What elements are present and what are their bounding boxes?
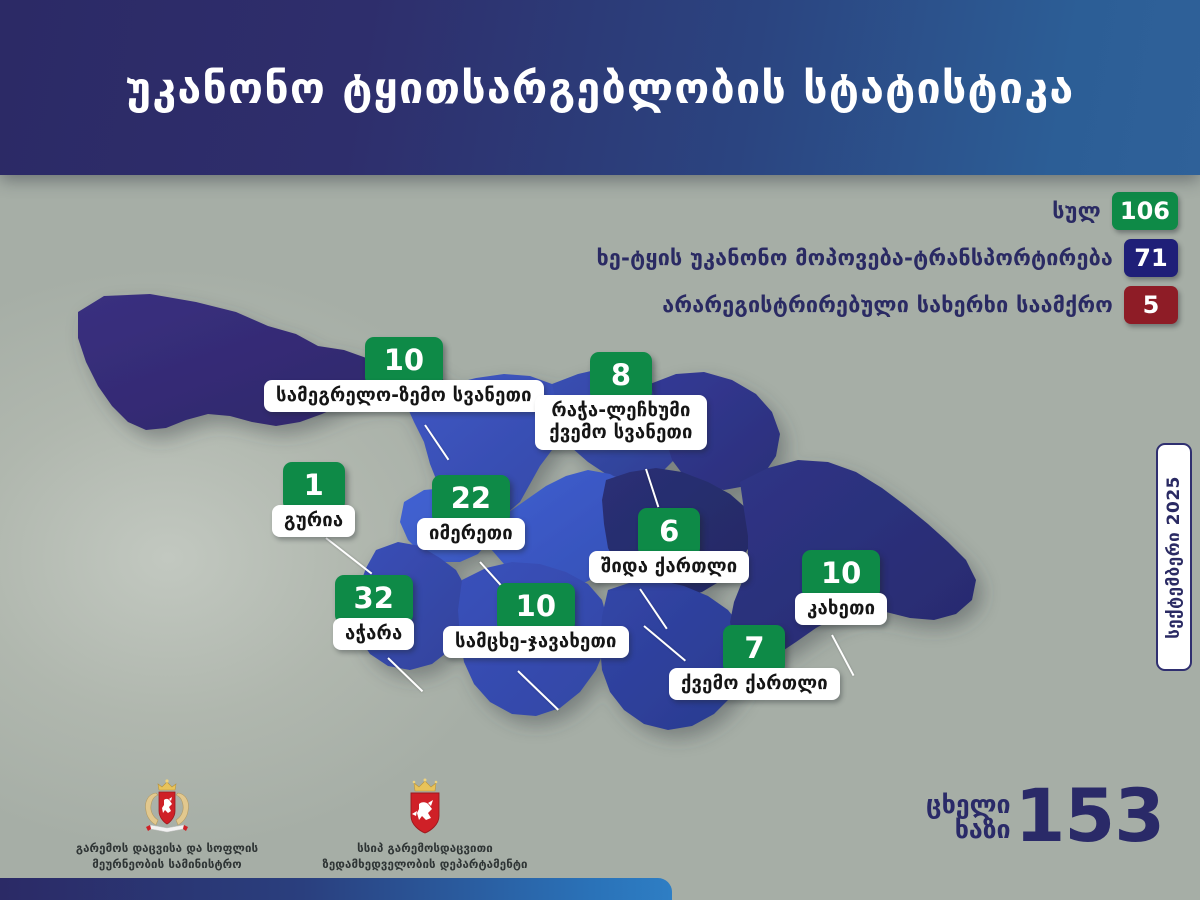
count-chip-achara: 32	[335, 575, 413, 624]
date-tag-label: სექტემბერი 2025	[1164, 476, 1184, 639]
department-shield-icon	[400, 778, 450, 836]
legend-row-total: სულ 106	[1052, 192, 1178, 230]
hotline-word-2: ხაზი	[926, 817, 1011, 842]
legend-badge-illegal-logging-transport: 71	[1124, 239, 1178, 277]
name-plate-kakheti: კახეთი	[795, 593, 887, 625]
count-chip-kakheti: 10	[802, 550, 880, 599]
legend-badge-total: 106	[1112, 192, 1178, 230]
callout-shida-kartli[interactable]: 6 შიდა ქართლი	[589, 508, 749, 583]
callout-kvemo-kartli[interactable]: 7 ქვემო ქართლი	[669, 625, 840, 700]
count-chip-samtskhe-javakheti: 10	[497, 583, 575, 632]
name-plate-shida-kartli: შიდა ქართლი	[589, 551, 749, 583]
name-plate-guria: გურია	[272, 505, 355, 537]
name-plate-racha-lechkhumi-kvemo-svaneti: რაჭა-ლეჩხუმი ქვემო სვანეთი	[535, 395, 707, 450]
organization-ministry-caption: გარემოს დაცვისა და სოფლის მეურნეობის სამ…	[76, 841, 258, 872]
callout-samegrelo-zemo-svaneti[interactable]: 10 სამეგრელო-ზემო სვანეთი	[264, 337, 544, 412]
organization-department-caption-line1: სსიპ გარემოსდაცვითი	[322, 841, 527, 857]
organization-ministry-caption-line1: გარემოს დაცვისა და სოფლის	[76, 841, 258, 857]
count-chip-shida-kartli: 6	[638, 508, 700, 557]
legend-row-illegal-logging-transport: ხე-ტყის უკანონო მოპოვება-ტრანსპორტირება …	[596, 239, 1178, 277]
callout-racha-lechkhumi-kvemo-svaneti[interactable]: 8 რაჭა-ლეჩხუმი ქვემო სვანეთი	[535, 352, 707, 450]
legend-badge-unregistered-sawmill: 5	[1124, 286, 1178, 324]
legend-row-unregistered-sawmill: არარეგისტრირებული სახერხი საამქრო 5	[662, 286, 1178, 324]
name-plate-kvemo-kartli: ქვემო ქართლი	[669, 668, 840, 700]
bottom-accent-bar	[0, 878, 672, 900]
name-plate-achara: აჭარა	[333, 618, 414, 650]
hotline-number: 153	[1015, 786, 1164, 849]
header-bar: უკანონო ტყითსარგებლობის სტატისტიკა	[0, 0, 1200, 175]
georgia-coat-of-arms-icon	[138, 778, 196, 836]
hotline-word-1: ცხელი	[926, 792, 1011, 817]
count-chip-guria: 1	[283, 462, 345, 511]
date-tag: სექტემბერი 2025	[1156, 443, 1192, 671]
callout-kakheti[interactable]: 10 კახეთი	[795, 550, 887, 625]
organization-department-caption-line2: ზედამხედველობის დეპარტამენტი	[322, 857, 527, 873]
page-title: უკანონო ტყითსარგებლობის სტატისტიკა	[126, 62, 1075, 113]
callout-achara[interactable]: 32 აჭარა	[333, 575, 414, 650]
callout-guria[interactable]: 1 გურია	[272, 462, 355, 537]
count-chip-imereti: 22	[432, 475, 510, 524]
count-chip-samegrelo-zemo-svaneti: 10	[365, 337, 443, 386]
callout-samtskhe-javakheti[interactable]: 10 სამცხე-ჯავახეთი	[443, 583, 629, 658]
count-chip-racha-lechkhumi-kvemo-svaneti: 8	[590, 352, 652, 401]
legend: სულ 106 ხე-ტყის უკანონო მოპოვება-ტრანსპო…	[596, 192, 1178, 324]
organization-department-caption: სსიპ გარემოსდაცვითი ზედამხედველობის დეპა…	[322, 841, 527, 872]
count-chip-kvemo-kartli: 7	[723, 625, 785, 674]
name-plate-samtskhe-javakheti: სამცხე-ჯავახეთი	[443, 626, 629, 658]
organization-department: სსიპ გარემოსდაცვითი ზედამხედველობის დეპა…	[300, 778, 550, 872]
organization-ministry-caption-line2: მეურნეობის სამინისტრო	[76, 857, 258, 873]
name-plate-imereti: იმერეთი	[417, 518, 525, 550]
name-plate-samegrelo-zemo-svaneti: სამეგრელო-ზემო სვანეთი	[264, 380, 544, 412]
legend-label-illegal-logging-transport: ხე-ტყის უკანონო მოპოვება-ტრანსპორტირება	[596, 246, 1113, 271]
legend-label-total: სულ	[1052, 199, 1101, 224]
hotline-block: ცხელი ხაზი 153	[926, 786, 1164, 849]
hotline-words: ცხელი ხაზი	[926, 792, 1011, 842]
callout-imereti[interactable]: 22 იმერეთი	[417, 475, 525, 550]
legend-label-unregistered-sawmill: არარეგისტრირებული სახერხი საამქრო	[662, 293, 1113, 318]
organization-ministry: გარემოს დაცვისა და სოფლის მეურნეობის სამ…	[42, 778, 292, 872]
